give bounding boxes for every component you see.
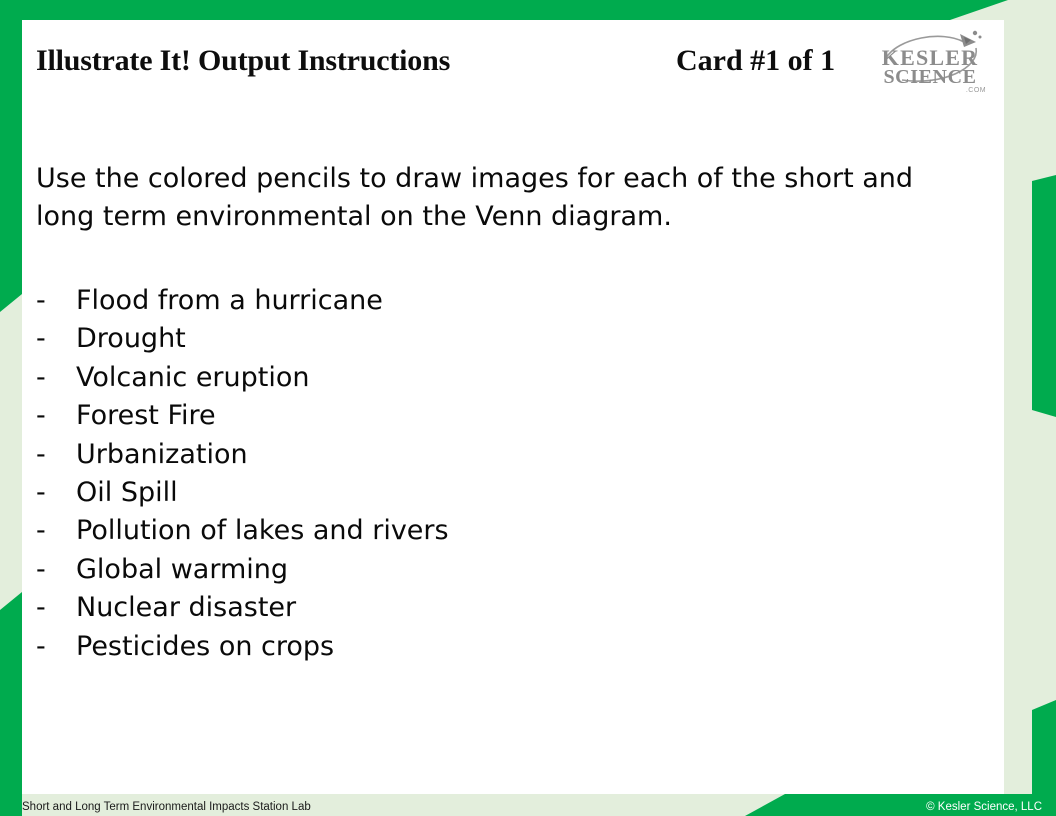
bullet-dash: - (36, 512, 76, 550)
slide-footer: Short and Long Term Environmental Impact… (0, 794, 1056, 816)
list-item-label: Oil Spill (76, 474, 178, 512)
bullet-dash: - (36, 436, 76, 474)
list-item: - Pesticides on crops (36, 628, 936, 666)
decorative-green-strip-left-top (0, 0, 22, 312)
list-item-label: Volcanic eruption (76, 359, 310, 397)
impacts-list: - Flood from a hurricane - Drought - Vol… (36, 282, 936, 666)
list-item: - Flood from a hurricane (36, 282, 936, 320)
list-item-label: Nuclear disaster (76, 589, 296, 627)
svg-text:SCIENCE: SCIENCE (883, 66, 976, 88)
list-item: - Volcanic eruption (36, 359, 936, 397)
kesler-science-logo: KESLER SCIENCE .COM (872, 28, 992, 100)
list-item-label: Pollution of lakes and rivers (76, 512, 449, 550)
bullet-dash: - (36, 320, 76, 358)
page-title: Illustrate It! Output Instructions (36, 44, 450, 78)
list-item-label: Flood from a hurricane (76, 282, 383, 320)
decorative-green-strip-right-middle (1032, 175, 1056, 417)
bullet-dash: - (36, 282, 76, 320)
instructions-paragraph: Use the colored pencils to draw images f… (36, 160, 956, 236)
bullet-dash: - (36, 628, 76, 666)
footer-divider (22, 793, 1004, 794)
bullet-dash: - (36, 359, 76, 397)
bullet-dash: - (36, 397, 76, 435)
decorative-green-strip-left-bottom (0, 592, 22, 816)
list-item: - Drought (36, 320, 936, 358)
card-content-area: Illustrate It! Output Instructions Card … (22, 20, 1004, 794)
list-item: - Pollution of lakes and rivers (36, 512, 936, 550)
list-item: - Global warming (36, 551, 936, 589)
slide-canvas: Illustrate It! Output Instructions Card … (0, 0, 1056, 816)
slide-header: Illustrate It! Output Instructions Card … (22, 20, 1004, 106)
list-item-label: Urbanization (76, 436, 248, 474)
list-item-label: Drought (76, 320, 186, 358)
bullet-dash: - (36, 474, 76, 512)
svg-text:.COM: .COM (966, 87, 986, 94)
bullet-dash: - (36, 551, 76, 589)
bullet-dash: - (36, 589, 76, 627)
list-item-label: Global warming (76, 551, 288, 589)
footer-copyright: © Kesler Science, LLC (926, 801, 1042, 813)
list-item-label: Pesticides on crops (76, 628, 334, 666)
list-item: - Nuclear disaster (36, 589, 936, 627)
decorative-green-strip-top (0, 0, 1056, 20)
card-number-label: Card #1 of 1 (676, 44, 835, 78)
footer-lab-title: Short and Long Term Environmental Impact… (22, 801, 311, 813)
list-item: - Oil Spill (36, 474, 936, 512)
list-item-label: Forest Fire (76, 397, 216, 435)
list-item: - Forest Fire (36, 397, 936, 435)
list-item: - Urbanization (36, 436, 936, 474)
